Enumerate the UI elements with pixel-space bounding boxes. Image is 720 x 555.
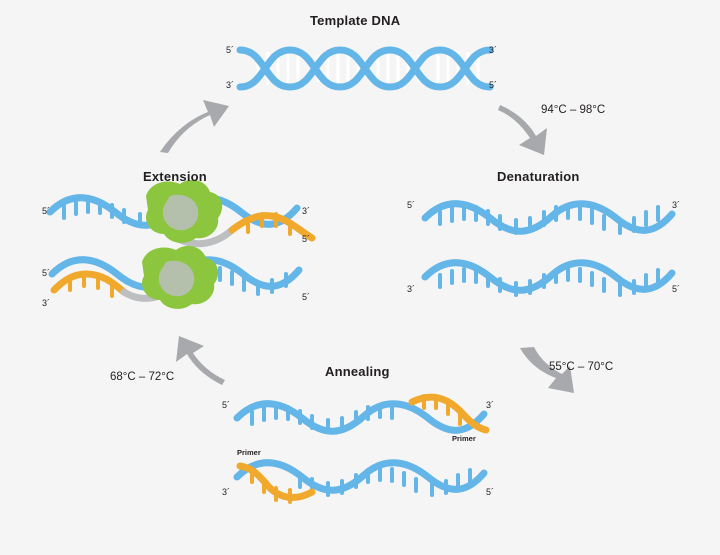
denaturation-strand2-5prime: 5´ xyxy=(672,284,680,294)
annealing-primer-lower-label: Primer xyxy=(237,448,261,457)
template-dna-title: Template DNA xyxy=(310,13,400,28)
extension-strand2-5prime-left: 5´ xyxy=(42,268,50,278)
extension-strand2-3prime-left: 3´ xyxy=(42,298,50,308)
denaturation-temperature: 94°C – 98°C xyxy=(541,104,605,116)
extension-strand1-5prime-right: 5´ xyxy=(302,234,310,244)
cycle-arrows xyxy=(160,100,574,393)
extension-strand1-3prime-right: 3´ xyxy=(302,206,310,216)
template-5prime-right: 5´ xyxy=(489,80,497,90)
annealing-temperature: 55°C – 70°C xyxy=(549,361,613,373)
denaturation-strand2-3prime: 3´ xyxy=(407,284,415,294)
annealing-primer-upper-label: Primer xyxy=(452,434,476,443)
extension-temperature: 68°C – 72°C xyxy=(110,371,174,383)
arrow-to-template xyxy=(160,100,229,153)
extension-strand2-5prime-right: 5´ xyxy=(302,292,310,302)
annealing-title: Annealing xyxy=(325,364,390,379)
denaturation-strand1-5prime: 5´ xyxy=(407,200,415,210)
annealing-strand2-5prime: 5´ xyxy=(486,487,494,497)
denaturation-strands xyxy=(425,204,672,295)
polymerase-upper xyxy=(146,180,222,243)
extension-title: Extension xyxy=(143,169,207,184)
annealing-strand1-5prime: 5´ xyxy=(222,400,230,410)
denaturation-title: Denaturation xyxy=(497,169,580,184)
template-3prime-right: 3´ xyxy=(489,45,497,55)
denaturation-strand1-3prime: 3´ xyxy=(672,200,680,210)
pcr-cycle-diagram: Template DNA 5´ 3´ 3´ 5´ 94°C – 98°C Den… xyxy=(0,0,720,555)
diagram-artwork xyxy=(0,0,720,555)
annealing-strands xyxy=(237,396,486,502)
annealing-strand2-3prime: 3´ xyxy=(222,487,230,497)
extension-strands xyxy=(50,180,312,309)
template-dna-helix xyxy=(240,50,490,87)
arrow-to-extension xyxy=(176,336,225,385)
template-3prime-left: 3´ xyxy=(226,80,234,90)
extension-strand1-5prime-left: 5´ xyxy=(42,206,50,216)
annealing-strand1-3prime: 3´ xyxy=(486,400,494,410)
arrow-to-denaturation xyxy=(498,105,547,155)
template-5prime-left: 5´ xyxy=(226,45,234,55)
